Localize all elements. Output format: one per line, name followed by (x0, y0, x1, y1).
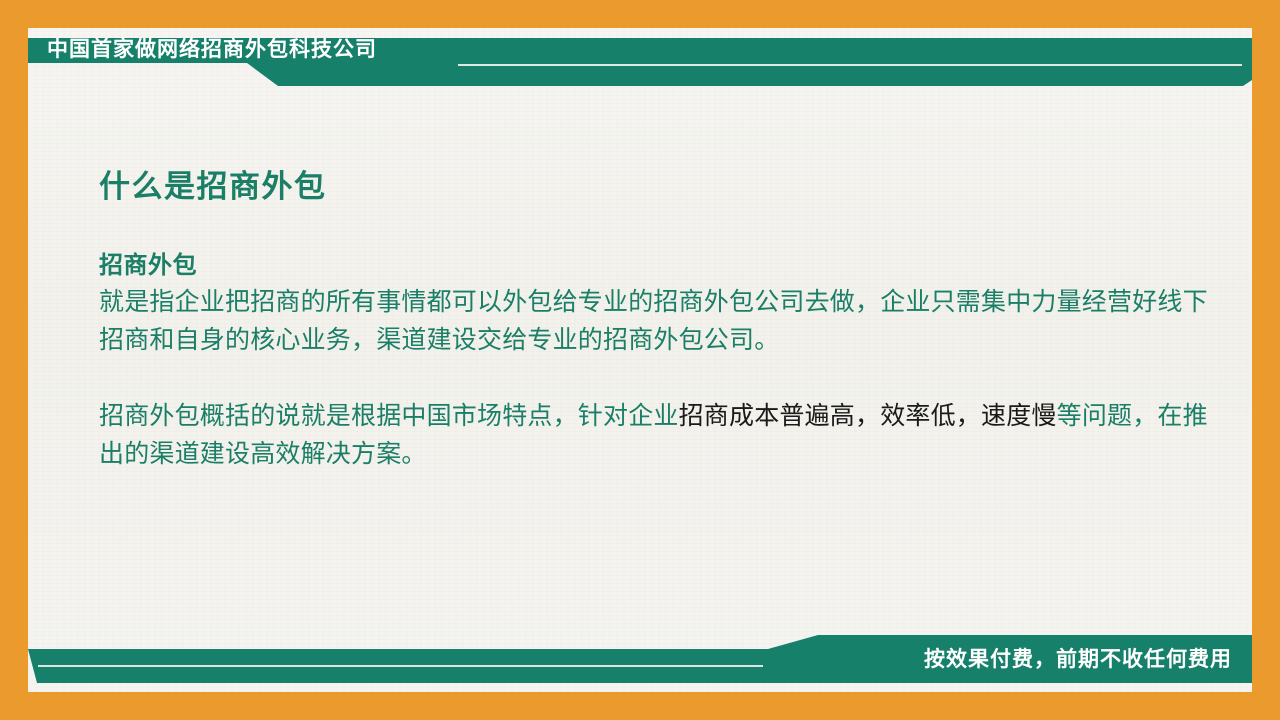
lead-term-heading: 招商外包 (99, 251, 1209, 281)
footer-tagline: 按效果付费，前期不收任何费用 (924, 646, 1232, 674)
page-title: 什么是招商外包 (99, 168, 1209, 205)
slide-canvas: 中国首家做网络招商外包科技公司 什么是招商外包 招商外包 就是指企业把招商的所有… (28, 28, 1252, 692)
header-divider-line (458, 64, 1242, 66)
slide-content: 什么是招商外包 招商外包 就是指企业把招商的所有事情都可以外包给专业的招商外包公… (99, 168, 1209, 473)
header-banner: 中国首家做网络招商外包科技公司 (28, 38, 1252, 86)
footer-divider-line (38, 665, 763, 667)
slide-root: 中国首家做网络招商外包科技公司 什么是招商外包 招商外包 就是指企业把招商的所有… (0, 0, 1280, 720)
paragraph-definition: 就是指企业把招商的所有事情都可以外包给专业的招商外包公司去做，企业只需集中力量经… (99, 283, 1209, 359)
footer-banner: 按效果付费，前期不收任何费用 (28, 635, 1252, 683)
header-title: 中国首家做网络招商外包科技公司 (47, 37, 377, 63)
paragraph-summary: 招商外包概括的说就是根据中国市场特点，针对企业招商成本普遍高，效率低，速度慢等问… (99, 397, 1209, 473)
paragraph-summary-part1: 招商外包概括的说就是根据中国市场特点，针对企业 (99, 402, 679, 430)
paragraph-summary-highlight: 招商成本普遍高，效率低，速度慢 (679, 402, 1057, 430)
